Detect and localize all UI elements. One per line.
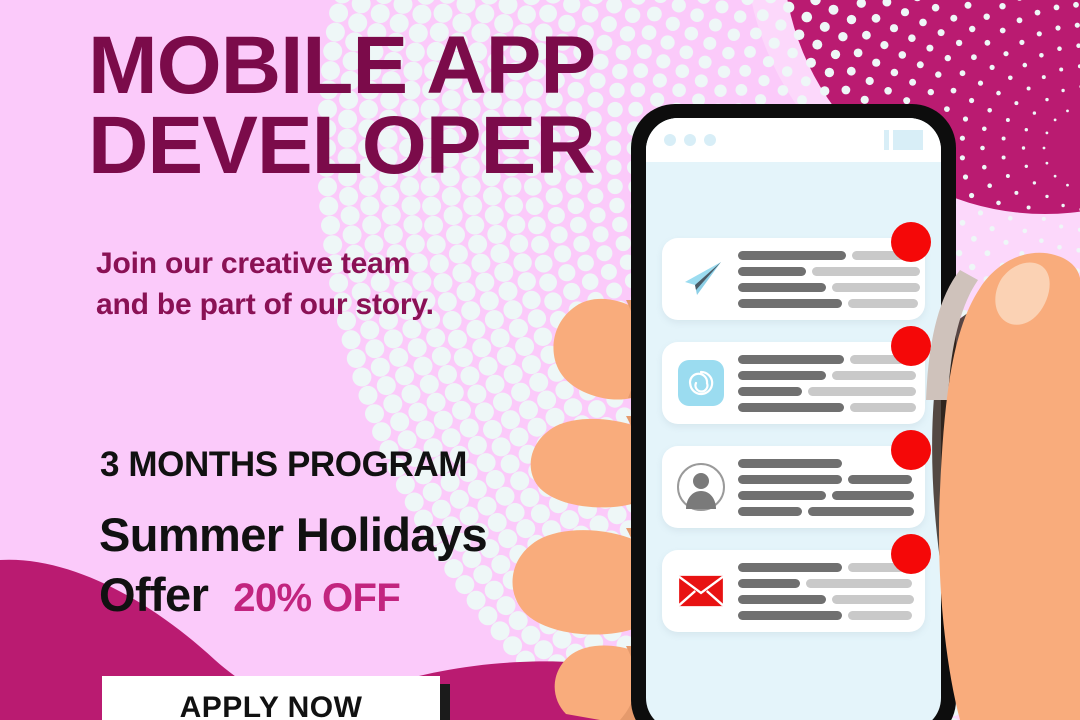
poster-canvas: MOBILE APP DEVELOPER Join our creative t…: [0, 0, 1080, 720]
program-duration: 3 MONTHS PROGRAM: [100, 445, 620, 485]
subheading: Join our creative team and be part of ou…: [96, 243, 616, 326]
offer-line-1: Summer Holidays: [99, 508, 487, 561]
apply-now-button[interactable]: APPLY NOW: [102, 676, 440, 720]
discount-badge: 20% OFF: [233, 576, 400, 620]
offer-line-2: Offer: [99, 568, 208, 621]
offer-text: Summer HolidaysOffer 20% OFF: [99, 505, 639, 624]
text-block: MOBILE APP DEVELOPER Join our creative t…: [0, 0, 640, 720]
apply-now-label: APPLY NOW: [180, 691, 363, 720]
page-title: MOBILE APP DEVELOPER: [88, 26, 659, 187]
